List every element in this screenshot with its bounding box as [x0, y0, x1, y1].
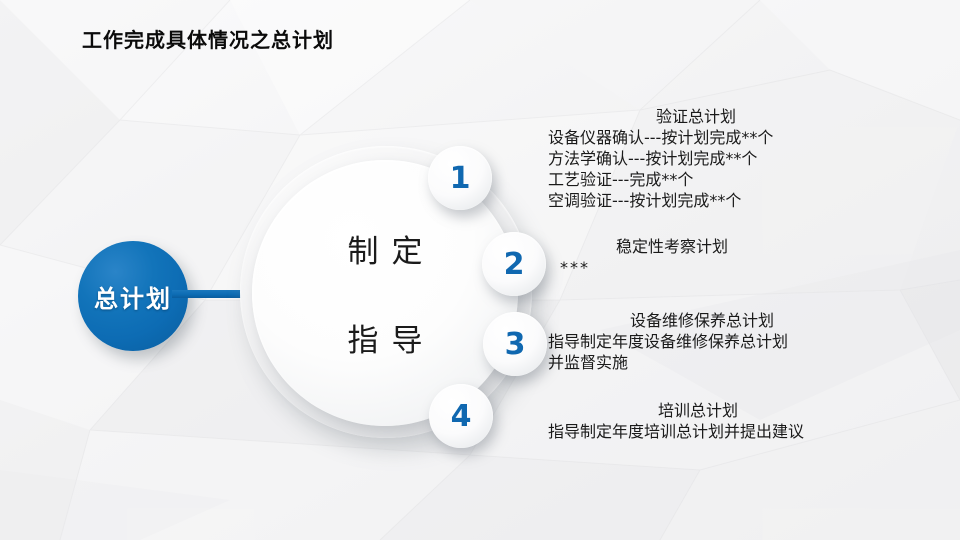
step-node-1[interactable]: 1: [428, 146, 492, 210]
hub-node-label: 总计划: [94, 279, 172, 314]
step-1-line-2: 方法学确认---按计划完成**个: [548, 148, 773, 169]
step-3-line-1: 指导制定年度设备维修保养总计划: [548, 331, 788, 352]
step-1-line-4: 空调验证---按计划完成**个: [548, 190, 773, 211]
step-4-heading: 培训总计划: [658, 400, 804, 421]
center-line-1: 制定: [335, 226, 436, 271]
step-node-2[interactable]: 2: [482, 232, 546, 296]
slide-canvas: 工作完成具体情况之总计划 总计划 制定 指导 1 2 3 4 验证总计划 设备仪…: [0, 0, 960, 540]
step-3-heading: 设备维修保养总计划: [630, 310, 788, 331]
step-node-3[interactable]: 3: [483, 312, 547, 376]
center-line-2: 指导: [335, 315, 436, 360]
step-1-heading: 验证总计划: [656, 106, 773, 127]
step-node-4[interactable]: 4: [429, 384, 493, 448]
step-text-block-3: 设备维修保养总计划 指导制定年度设备维修保养总计划 并监督实施: [548, 310, 788, 373]
step-3-line-2: 并监督实施: [548, 352, 788, 373]
step-text-block-4: 培训总计划 指导制定年度培训总计划并提出建议: [548, 400, 804, 442]
step-text-block-1: 验证总计划 设备仪器确认---按计划完成**个 方法学确认---按计划完成**个…: [548, 106, 773, 211]
step-1-line-1: 设备仪器确认---按计划完成**个: [548, 127, 773, 148]
step-1-line-3: 工艺验证---完成**个: [548, 169, 773, 190]
step-2-heading: 稳定性考察计划: [616, 236, 728, 257]
step-2-line-1: ***: [560, 257, 728, 278]
step-4-line-1: 指导制定年度培训总计划并提出建议: [548, 421, 804, 442]
step-text-block-2: 稳定性考察计划 ***: [548, 236, 728, 278]
page-title: 工作完成具体情况之总计划: [82, 24, 334, 53]
